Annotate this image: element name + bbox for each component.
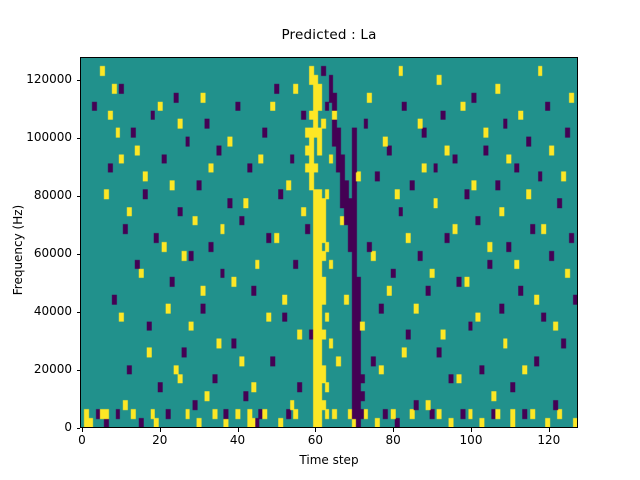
y-axis-label: Frequency (Hz) [11,180,25,320]
x-tick-mark [160,428,161,432]
y-tick-label: 100000 [6,130,72,144]
x-axis-label: Time step [80,453,578,467]
matplotlib-figure: Predicted : La 020406080100120 020000400… [0,0,640,480]
x-tick-label: 100 [441,433,501,447]
y-tick-label: 120000 [6,72,72,86]
heatmap-axes [80,57,578,428]
x-tick-mark [238,428,239,432]
y-tick-mark [77,80,81,81]
x-tick-mark [393,428,394,432]
y-tick-mark [77,428,81,429]
x-tick-label: 0 [52,433,112,447]
y-tick-label: 20000 [6,362,72,376]
x-tick-mark [315,428,316,432]
y-tick-mark [77,138,81,139]
heatmap-image [81,58,577,427]
x-tick-label: 60 [285,433,345,447]
x-tick-mark [471,428,472,432]
y-tick-mark [77,196,81,197]
y-tick-label: 0 [6,420,72,434]
x-tick-label: 120 [519,433,579,447]
x-tick-label: 40 [208,433,268,447]
y-tick-mark [77,312,81,313]
y-tick-mark [77,254,81,255]
x-tick-label: 80 [363,433,423,447]
y-tick-mark [77,370,81,371]
x-tick-mark [82,428,83,432]
chart-title: Predicted : La [80,27,578,43]
x-tick-label: 20 [130,433,190,447]
x-tick-mark [549,428,550,432]
